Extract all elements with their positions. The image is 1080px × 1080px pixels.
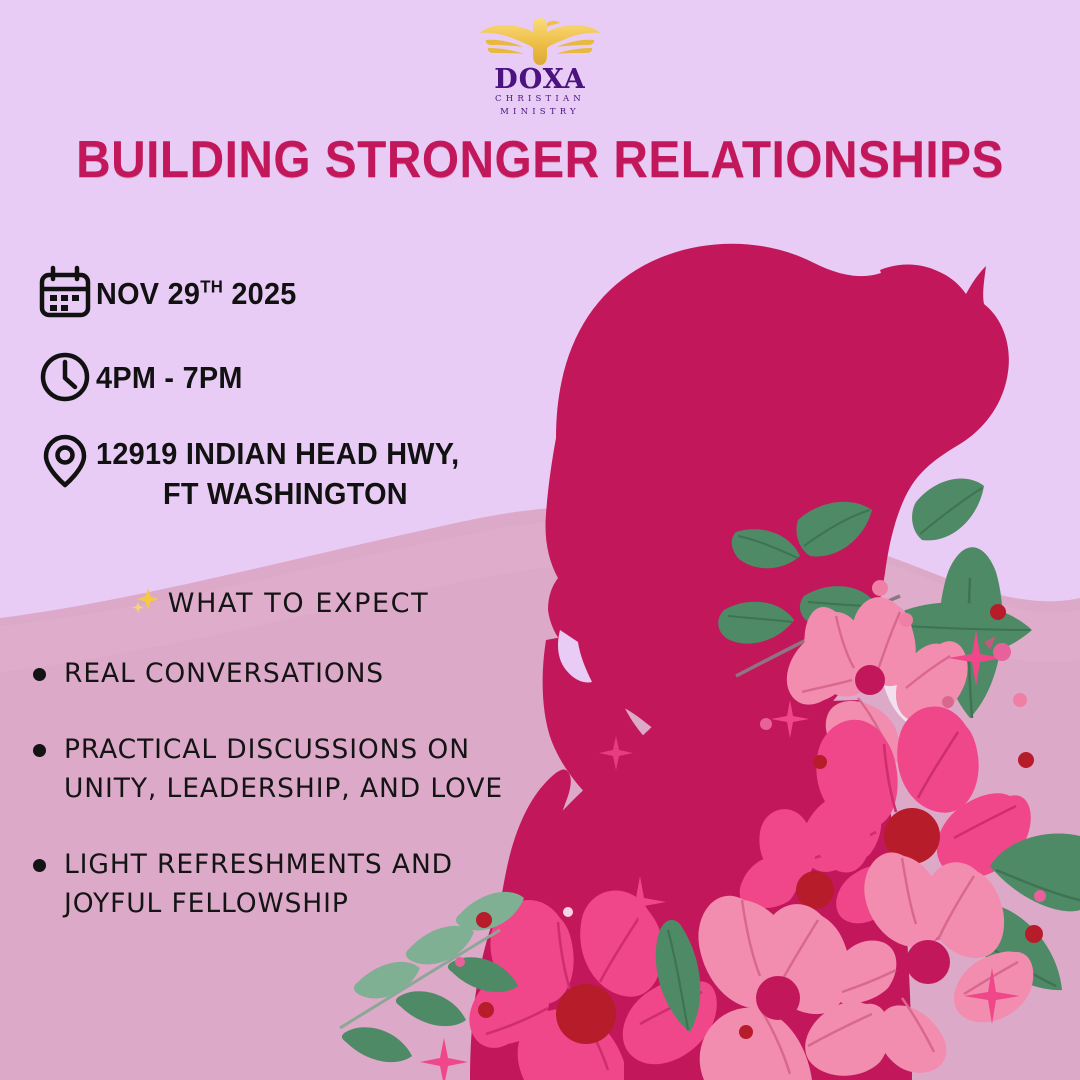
event-date-year: 2025 [223, 276, 297, 311]
event-flyer: DOXA CHRISTIAN MINISTRY BUILDING STRONGE… [0, 0, 1080, 1080]
dove-icon [478, 12, 602, 68]
event-location: 12919 INDIAN HEAD HWY, FT WASHINGTON [96, 430, 459, 513]
clock-icon [34, 346, 96, 408]
detail-row-location: 12919 INDIAN HEAD HWY, FT WASHINGTON [34, 430, 534, 513]
brand-logo: DOXA CHRISTIAN MINISTRY [0, 12, 1080, 119]
event-location-line2: FT WASHINGTON [96, 474, 459, 514]
event-details: NOV 29TH 2025 4PM - 7PM 12919 INDIAN HEA… [34, 262, 534, 535]
event-time: 4PM - 7PM [96, 346, 243, 398]
what-to-expect-list: REAL CONVERSATIONS PRACTICAL DISCUSSIONS… [22, 655, 522, 961]
page-title: BUILDING STRONGER RELATIONSHIPS [43, 130, 1037, 190]
what-to-expect-heading: WHAT TO EXPECT [0, 586, 560, 623]
logo-wordmark: DOXA [0, 66, 1080, 93]
calendar-icon [34, 262, 96, 324]
detail-row-time: 4PM - 7PM [34, 346, 534, 408]
logo-subtitle-line1: CHRISTIAN [0, 93, 1080, 106]
location-pin-icon [34, 430, 96, 492]
list-item: REAL CONVERSATIONS [22, 655, 522, 693]
event-location-line1: 12919 INDIAN HEAD HWY, [96, 436, 459, 471]
what-to-expect-label: WHAT TO EXPECT [168, 588, 429, 619]
event-date-prefix: NOV 29 [96, 276, 200, 311]
event-date-ordinal: TH [200, 277, 223, 297]
list-item: PRACTICAL DISCUSSIONS ON UNITY, LEADERSH… [22, 731, 522, 808]
list-item: LIGHT REFRESHMENTS AND JOYFUL FELLOWSHIP [22, 846, 522, 923]
sparkles-icon [131, 586, 161, 623]
logo-subtitle-line2: MINISTRY [0, 106, 1080, 119]
detail-row-date: NOV 29TH 2025 [34, 262, 534, 324]
event-date: NOV 29TH 2025 [96, 262, 297, 314]
